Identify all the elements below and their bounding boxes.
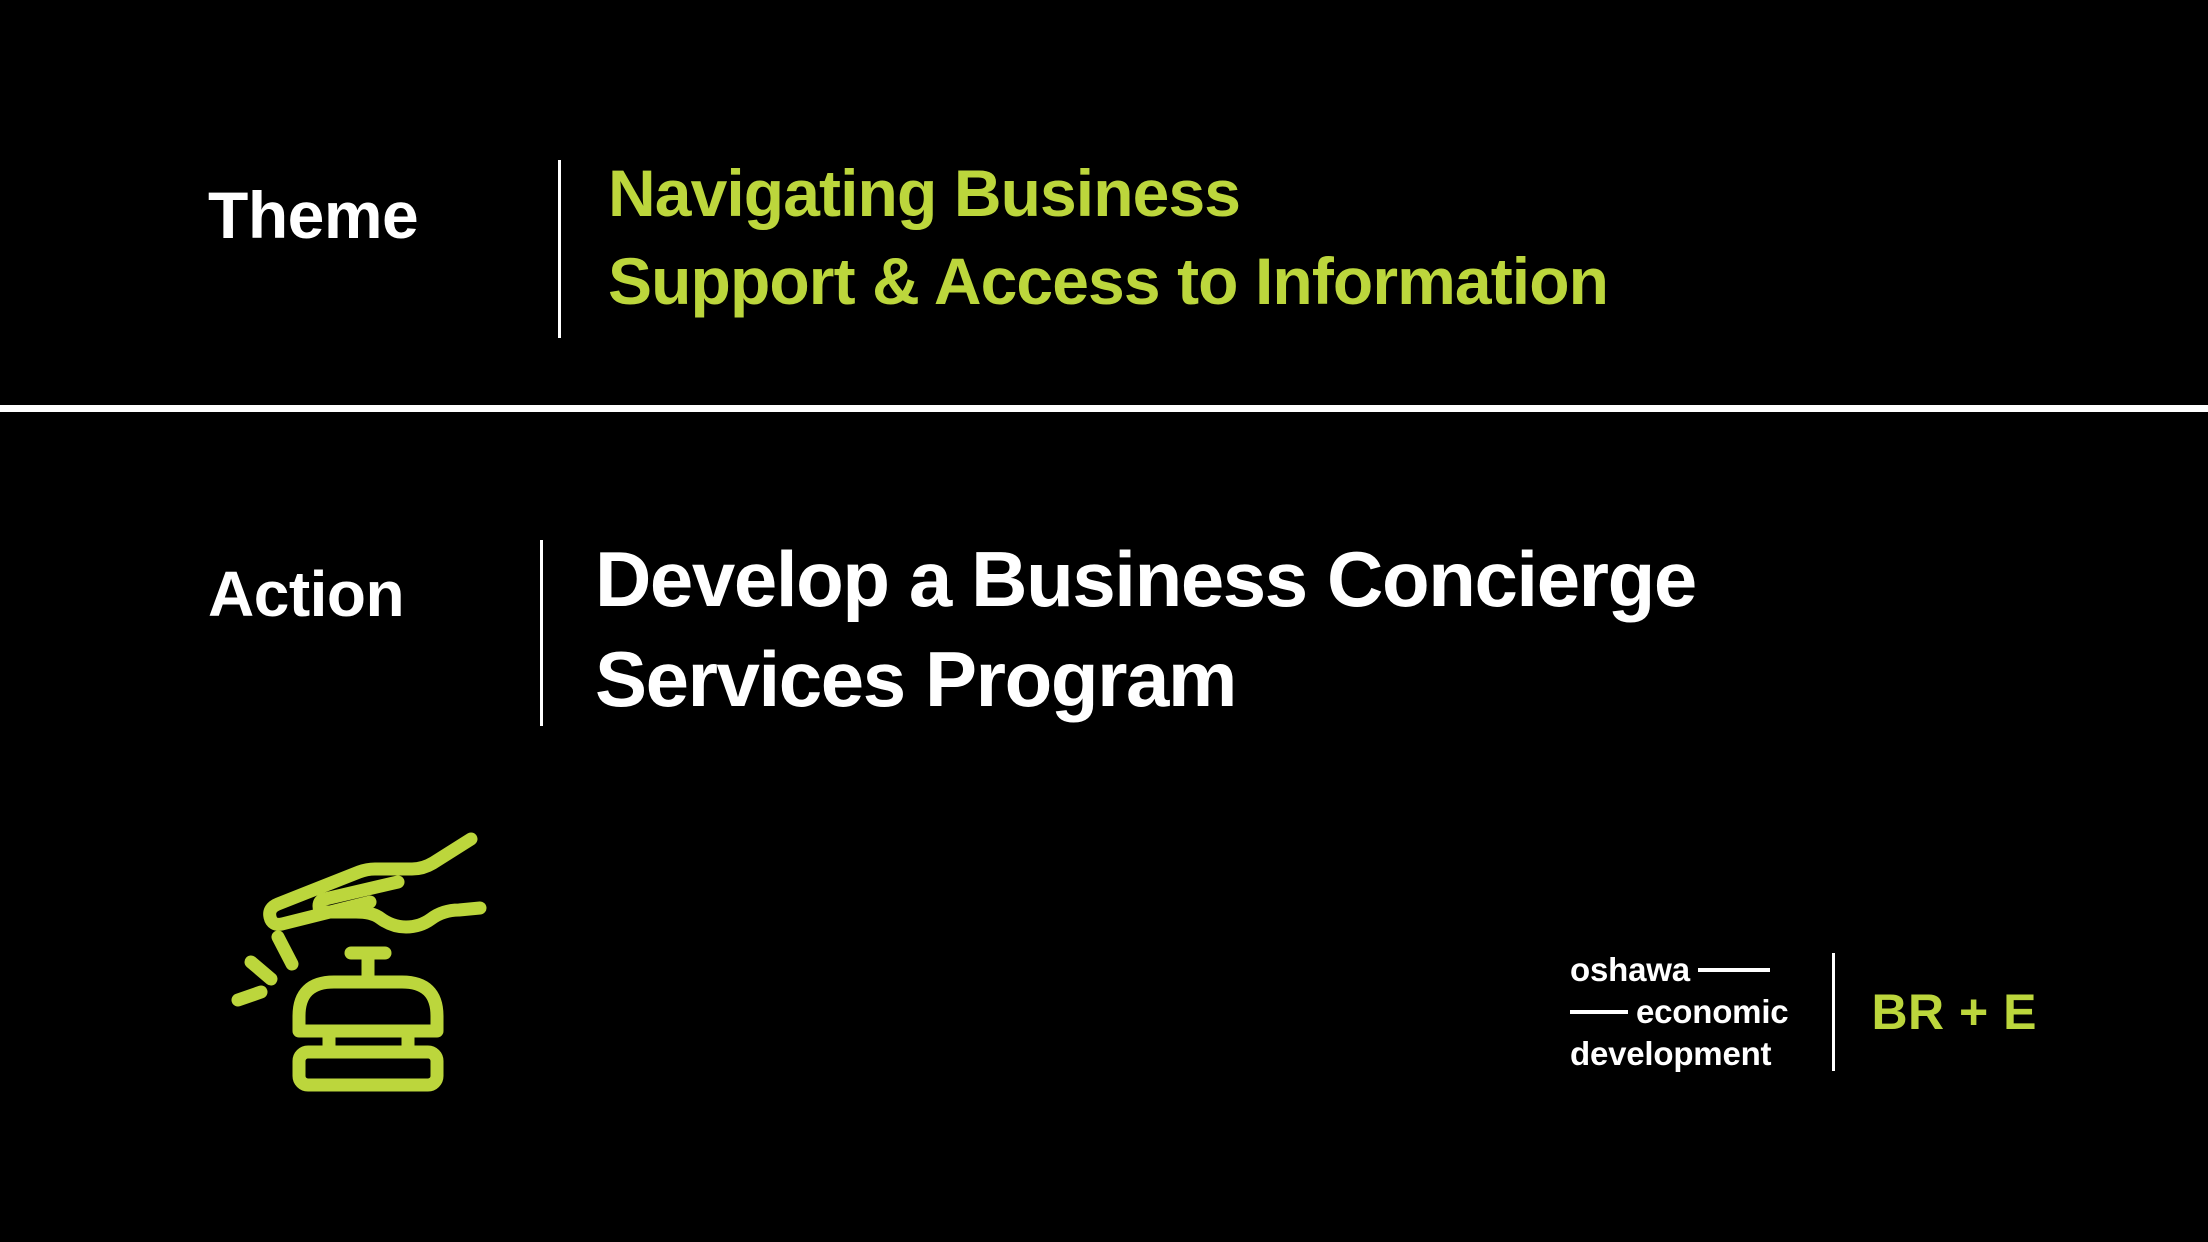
action-divider-rule: [540, 540, 543, 726]
theme-statement-line-2: Support & Access to Information: [608, 248, 1608, 314]
action-statement-line-2: Services Program: [595, 640, 1696, 718]
oshawa-economic-development-logo: oshawa economic development: [1570, 949, 1788, 1075]
action-statement: Develop a Business Concierge Services Pr…: [595, 540, 1696, 718]
theme-band: Theme Navigating Business Support & Acce…: [0, 0, 2208, 408]
theme-divider-rule: [558, 160, 561, 338]
theme-row: Theme Navigating Business Support & Acce…: [208, 160, 1608, 338]
logo-divider-rule: [1832, 953, 1835, 1071]
theme-statement-line-1: Navigating Business: [608, 160, 1608, 226]
action-label: Action: [208, 540, 540, 626]
logo-line-economic: economic: [1570, 991, 1788, 1033]
presentation-slide: Theme Navigating Business Support & Acce…: [0, 0, 2208, 1242]
logo-lockup: oshawa economic development BR + E: [1570, 948, 2037, 1076]
logo-text-development: development: [1570, 1033, 1771, 1075]
logo-line-oshawa: oshawa: [1570, 949, 1788, 991]
theme-label: Theme: [208, 160, 558, 248]
section-divider: [0, 405, 2208, 412]
logo-line-development: development: [1570, 1033, 1788, 1075]
concierge-bell-icon: [222, 812, 552, 1112]
logo-rule-right: [1698, 968, 1770, 972]
logo-text-oshawa: oshawa: [1570, 949, 1690, 991]
action-row: Action Develop a Business Concierge Serv…: [208, 540, 1696, 726]
action-statement-line-1: Develop a Business Concierge: [595, 540, 1696, 618]
theme-statement: Navigating Business Support & Access to …: [608, 160, 1608, 314]
logo-rule-left: [1570, 1010, 1628, 1014]
bre-program-mark: BR + E: [1871, 983, 2037, 1041]
logo-text-economic: economic: [1636, 991, 1788, 1033]
